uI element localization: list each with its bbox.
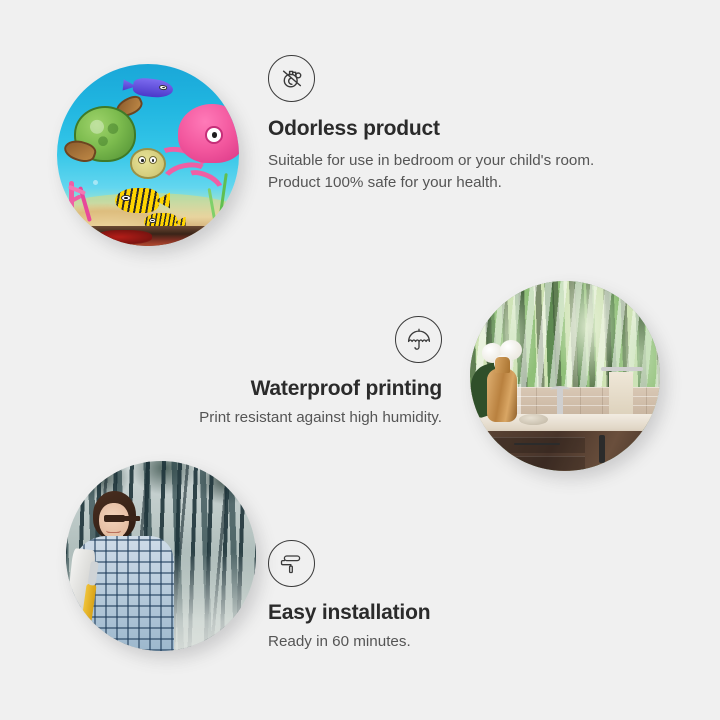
octopus-icon [159,104,239,199]
turtle-eye [138,156,146,164]
yellow-fish-icon [115,188,159,213]
feature-description: Suitable for use in bedroom or your chil… [268,150,608,194]
room-foreground-band [57,226,239,246]
feature-title: Waterproof printing [142,377,442,401]
feature-description: Print resistant against high humidity. [142,407,442,429]
octopus-eye [205,126,223,144]
installer-person [70,491,176,651]
wooden-vanity-cabinet [481,431,660,471]
umbrella-icon [395,316,442,363]
bathroom-tropical-wallpaper-photo [470,281,660,471]
no-odor-spray-bottle-icon [268,55,315,102]
eyes [104,515,125,521]
feature-title: Odorless product [268,117,608,141]
drawer-handle [599,435,604,463]
feature-easy-installation: Easy installation Ready in 60 minutes. [268,540,548,653]
feature-title: Easy installation [268,601,548,625]
drawer-handle [514,443,560,445]
underwater-cartoon-mural-photo [57,64,239,246]
feature-odorless: Odorless product Suitable for use in bed… [268,55,608,194]
vanity-drawer [492,456,585,470]
feature-description: Ready in 60 minutes. [268,631,548,653]
forest-mural-installer-photo [66,461,256,651]
paint-roller-icon [268,540,315,587]
towel-bar [601,367,643,372]
gold-vase [487,368,517,421]
feature-waterproof: Waterproof printing Print resistant agai… [142,316,442,429]
coral-icon [57,162,119,224]
octopus-head [178,104,239,163]
feature-highlights-stage: Odorless product Suitable for use in bed… [0,0,720,720]
